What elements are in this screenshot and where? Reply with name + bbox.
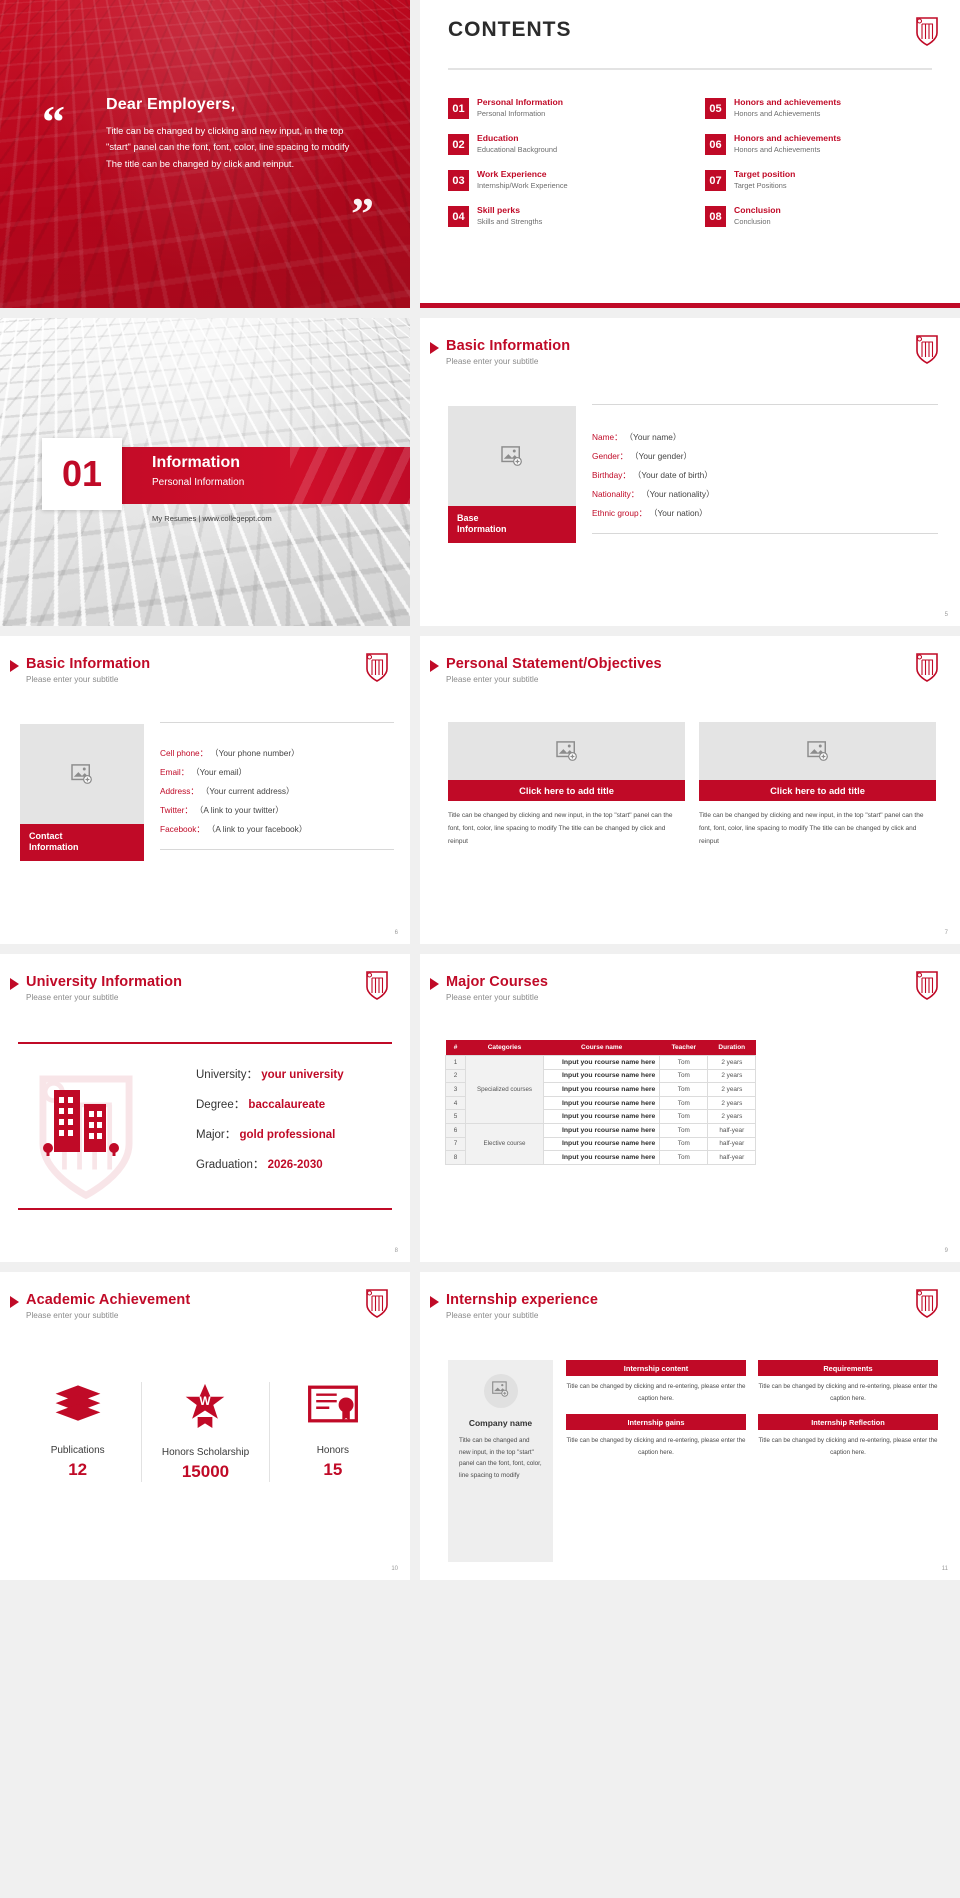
cell-duration: half-year: [708, 1123, 756, 1137]
triangle-bullet-icon: [10, 660, 19, 672]
shield-crest-icon: [914, 1287, 940, 1319]
cell-duration: 2 years: [708, 1096, 756, 1110]
cell-teacher: Tom: [660, 1096, 708, 1110]
toc-number: 06: [705, 134, 726, 155]
cell-index: 6: [446, 1123, 466, 1137]
info-row: Gender： （Your gender）: [592, 450, 938, 462]
page-title: Internship experience: [446, 1292, 598, 1308]
toc-subtitle: Personal Information: [477, 110, 563, 119]
toc-item-08[interactable]: 08 Conclusion Conclusion: [705, 206, 936, 227]
col-teacher: Teacher: [660, 1040, 708, 1056]
cell-duration: half-year: [708, 1151, 756, 1165]
cell-index: 7: [446, 1137, 466, 1151]
stat-honors-scholarship[interactable]: W Honors Scholarship 15000: [141, 1382, 268, 1482]
page-title: Basic Information: [446, 338, 570, 354]
page-number: 8: [395, 1248, 398, 1254]
card-body: Title can be changed by clicking and re-…: [758, 1381, 938, 1405]
slide-header: Internship experience Please enter your …: [446, 1292, 598, 1320]
books-icon: [50, 1413, 106, 1430]
stat-label: Honors: [276, 1445, 390, 1456]
info-row: Birthday： （Your date of birth）: [592, 469, 938, 481]
shield-crest-icon: [364, 651, 390, 683]
page-subtitle: Please enter your subtitle: [446, 357, 570, 366]
col-index: #: [446, 1040, 466, 1056]
internship-card[interactable]: Requirements Title can be changed by cli…: [758, 1360, 938, 1405]
page-number: 5: [945, 612, 948, 618]
header-divider: [448, 68, 932, 70]
toc-item-07[interactable]: 07 Target position Target Positions: [705, 170, 936, 191]
info-row: Facebook： （A link to your facebook）: [160, 823, 394, 835]
university-row: Degree： baccalaureate: [196, 1096, 344, 1112]
page-number: 6: [395, 930, 398, 936]
page-number: 11: [942, 1566, 948, 1572]
row-key: Graduation：: [196, 1159, 264, 1171]
info-value: （Your name）: [625, 432, 681, 442]
info-row: Nationality： （Your nationality）: [592, 488, 938, 500]
info-key: Name：: [592, 432, 622, 442]
company-photo-placeholder[interactable]: [484, 1374, 518, 1408]
stat-label: Honors Scholarship: [148, 1447, 262, 1458]
page-subtitle: Please enter your subtitle: [26, 1311, 190, 1320]
slide-contents[interactable]: CONTENTS 01 Personal Information Persona…: [420, 0, 960, 308]
slide-header: Academic Achievement Please enter your s…: [26, 1292, 190, 1320]
slide-header: Basic Information Please enter your subt…: [446, 338, 570, 366]
toc-title: Personal Information: [477, 98, 563, 108]
toc-title: Honors and achievements: [734, 98, 841, 108]
cell-index: 2: [446, 1069, 466, 1083]
company-text: Title can be changed and new input, in t…: [448, 1428, 553, 1482]
card-body: Title can be changed by clicking and re-…: [758, 1435, 938, 1459]
info-row: Twitter： （A link to your twitter）: [160, 804, 394, 816]
info-key: Address：: [160, 786, 199, 796]
university-row: University： your university: [196, 1066, 344, 1082]
toc-item-05[interactable]: 05 Honors and achievements Honors and Ac…: [705, 98, 936, 119]
slide-header: Personal Statement/Objectives Please ent…: [446, 656, 662, 684]
info-key: Ethnic group：: [592, 508, 647, 518]
info-value: （A link to your twitter）: [195, 805, 284, 815]
label-line-2: Information: [457, 524, 507, 534]
row-value: your university: [261, 1069, 343, 1081]
cell-duration: half-year: [708, 1137, 756, 1151]
info-row: Address： （Your current address）: [160, 785, 394, 797]
toc-number: 04: [448, 206, 469, 227]
triangle-bullet-icon: [430, 660, 439, 672]
slide-thumbnail-grid: “ Dear Employers, Title can be changed b…: [0, 0, 960, 1898]
bottom-rule: [160, 849, 394, 850]
info-key: Nationality：: [592, 489, 639, 499]
toc-title: Honors and achievements: [734, 134, 841, 144]
slide-header: Basic Information Please enter your subt…: [26, 656, 150, 684]
card-body: Title can be changed by clicking and new…: [699, 809, 936, 848]
slide-personal-statement[interactable]: Personal Statement/Objectives Please ent…: [420, 636, 960, 944]
divider-number-box: 01: [42, 438, 122, 510]
add-image-icon: [71, 764, 93, 784]
info-value: （Your phone number）: [210, 748, 299, 758]
cell-duration: 2 years: [708, 1069, 756, 1083]
toc-item-06[interactable]: 06 Honors and achievements Honors and Ac…: [705, 134, 936, 155]
toc-subtitle: Target Positions: [734, 182, 795, 191]
cell-teacher: Tom: [660, 1137, 708, 1151]
photo-placeholder[interactable]: [699, 722, 936, 780]
add-image-icon: [807, 741, 829, 761]
stat-value: 15000: [148, 1462, 262, 1482]
info-value: （Your date of birth）: [633, 470, 712, 480]
divider-footer: My Resumes | www.collegeppt.com: [152, 514, 272, 523]
cover-title: Dear Employers,: [106, 96, 384, 114]
internship-card[interactable]: Internship content Title can be changed …: [566, 1360, 746, 1405]
toc-subtitle: Honors and Achievements: [734, 146, 841, 155]
internship-card[interactable]: Internship Reflection Title can be chang…: [758, 1414, 938, 1459]
university-row: Graduation： 2026-2030: [196, 1156, 344, 1172]
cell-duration: 2 years: [708, 1110, 756, 1124]
info-key: Cell phone：: [160, 748, 208, 758]
toc-number: 05: [705, 98, 726, 119]
info-value: （Your email）: [191, 767, 247, 777]
row-key: Major：: [196, 1129, 236, 1141]
cell-course-name: Input you rcourse name here: [544, 1137, 660, 1151]
add-image-icon: [556, 741, 578, 761]
slide-internship-experience[interactable]: Internship experience Please enter your …: [420, 1272, 960, 1580]
cell-duration: 2 years: [708, 1083, 756, 1097]
card-body: Title can be changed by clicking and re-…: [566, 1381, 746, 1405]
cell-course-name: Input you rcourse name here: [544, 1151, 660, 1165]
info-key: Birthday：: [592, 470, 631, 480]
quote-close-icon: ”: [351, 198, 374, 230]
contents-list: 01 Personal Information Personal Informa…: [448, 98, 936, 227]
cell-course-name: Input you rcourse name here: [544, 1083, 660, 1097]
shield-crest-icon: [364, 969, 390, 1001]
row-value: 2026-2030: [268, 1159, 323, 1171]
cell-course-name: Input you rcourse name here: [544, 1069, 660, 1083]
contact-information-label: Contact Information: [20, 824, 144, 861]
info-value: （Your nation）: [649, 508, 707, 518]
label-line-1: Base: [457, 513, 479, 523]
stat-publications[interactable]: Publications 12: [14, 1382, 141, 1482]
triangle-bullet-icon: [430, 1296, 439, 1308]
cell-teacher: Tom: [660, 1069, 708, 1083]
photo-placeholder[interactable]: [20, 724, 144, 824]
bottom-rule: [592, 533, 938, 534]
triangle-bullet-icon: [430, 342, 439, 354]
slide-cover[interactable]: “ Dear Employers, Title can be changed b…: [0, 0, 410, 308]
divider-title: Information: [152, 454, 240, 472]
slide-header: University Information Please enter your…: [26, 974, 182, 1002]
card-body: Title can be changed by clicking and new…: [448, 809, 685, 848]
info-key: Email：: [160, 767, 189, 777]
label-line-2: Information: [29, 842, 79, 852]
toc-title: Education: [477, 134, 557, 144]
toc-title: Work Experience: [477, 170, 568, 180]
cell-index: 3: [446, 1083, 466, 1097]
statement-card[interactable]: Click here to add title Title can be cha…: [699, 722, 936, 848]
toc-subtitle: Conclusion: [734, 218, 781, 227]
info-value: （Your current address）: [201, 786, 294, 796]
card-title[interactable]: Internship content: [566, 1360, 746, 1376]
shield-crest-icon: [914, 969, 940, 1001]
card-title[interactable]: Internship gains: [566, 1414, 746, 1430]
divider-number: 01: [62, 453, 102, 495]
cell-teacher: Tom: [660, 1110, 708, 1124]
page-title: Major Courses: [446, 974, 548, 990]
toc-item-01[interactable]: 01 Personal Information Personal Informa…: [448, 98, 679, 119]
cell-duration: 2 years: [708, 1056, 756, 1070]
cell-category: Specialized courses: [466, 1056, 544, 1124]
top-rule: [160, 722, 394, 723]
col-duration: Duration: [708, 1040, 756, 1056]
page-number: 10: [391, 1566, 398, 1572]
quote-open-icon: “: [42, 106, 65, 138]
courses-table[interactable]: # Categories Course name Teacher Duratio…: [445, 1040, 756, 1165]
page-title: University Information: [26, 974, 182, 990]
add-image-icon: [492, 1381, 509, 1402]
info-key: Twitter：: [160, 805, 193, 815]
shield-crest-icon: [914, 651, 940, 683]
university-row: Major： gold professional: [196, 1126, 344, 1142]
achievement-stats: Publications 12 W Honors Scholarship 150…: [14, 1382, 396, 1482]
card-body: Title can be changed by clicking and re-…: [566, 1435, 746, 1459]
cell-teacher: Tom: [660, 1056, 708, 1070]
top-rule: [592, 404, 938, 405]
buildings-icon: [38, 1074, 128, 1169]
info-row: Cell phone： （Your phone number）: [160, 747, 394, 759]
cell-index: 5: [446, 1110, 466, 1124]
info-key: Gender：: [592, 451, 628, 461]
card-title[interactable]: Internship Reflection: [758, 1414, 938, 1430]
cell-teacher: Tom: [660, 1123, 708, 1137]
info-key: Facebook：: [160, 824, 205, 834]
company-panel[interactable]: Company name Title can be changed and ne…: [448, 1360, 553, 1562]
page-subtitle: Please enter your subtitle: [446, 993, 548, 1002]
page-title: Personal Statement/Objectives: [446, 656, 662, 672]
toc-number: 01: [448, 98, 469, 119]
cover-body: Title can be changed by clicking and new…: [106, 123, 356, 172]
toc-title: Conclusion: [734, 206, 781, 216]
toc-subtitle: Internship/Work Experience: [477, 182, 568, 191]
cover-quote-block: “ Dear Employers, Title can be changed b…: [40, 96, 384, 172]
shield-crest-icon: [364, 1287, 390, 1319]
toc-number: 02: [448, 134, 469, 155]
toc-item-02[interactable]: 02 Education Educational Background: [448, 134, 679, 155]
university-info-box: University： your university Degree： bacc…: [18, 1042, 392, 1210]
toc-number: 03: [448, 170, 469, 191]
slide-header: Major Courses Please enter your subtitle: [446, 974, 548, 1002]
cell-teacher: Tom: [660, 1083, 708, 1097]
cell-course-name: Input you rcourse name here: [544, 1123, 660, 1137]
slide-academic-achievement[interactable]: Academic Achievement Please enter your s…: [0, 1272, 410, 1580]
contents-title: CONTENTS: [448, 18, 572, 42]
page-subtitle: Please enter your subtitle: [446, 675, 662, 684]
info-value: （Your nationality）: [641, 489, 714, 499]
company-name: Company name: [448, 1418, 553, 1428]
page-number: 7: [945, 930, 948, 936]
stat-value: 12: [20, 1460, 135, 1480]
card-title[interactable]: Requirements: [758, 1360, 938, 1376]
cell-index: 1: [446, 1056, 466, 1070]
photo-placeholder[interactable]: [448, 406, 576, 506]
stat-honors[interactable]: Honors 15: [269, 1382, 396, 1482]
row-value: baccalaureate: [248, 1099, 325, 1111]
cell-index: 4: [446, 1096, 466, 1110]
internship-card[interactable]: Internship gains Title can be changed by…: [566, 1414, 746, 1459]
toc-title: Target position: [734, 170, 795, 180]
col-course-name: Course name: [544, 1040, 660, 1056]
toc-title: Skill perks: [477, 206, 542, 216]
basic-info-list: Name： （Your name） Gender： （Your gender） …: [592, 431, 938, 519]
slide-major-courses[interactable]: Major Courses Please enter your subtitle…: [420, 954, 960, 1262]
shield-crest-icon: [914, 15, 940, 47]
stat-label: Publications: [20, 1445, 135, 1456]
toc-item-03[interactable]: 03 Work Experience Internship/Work Exper…: [448, 170, 679, 191]
toc-subtitle: Educational Background: [477, 146, 557, 155]
info-row: Ethnic group： （Your nation）: [592, 507, 938, 519]
medal-star-icon: W: [177, 1415, 233, 1432]
info-row: Name： （Your name）: [592, 431, 938, 443]
university-rows: University： your university Degree： bacc…: [196, 1066, 344, 1186]
triangle-bullet-icon: [10, 978, 19, 990]
table-header-row: # Categories Course name Teacher Duratio…: [446, 1040, 756, 1056]
page-title: Basic Information: [26, 656, 150, 672]
cell-course-name: Input you rcourse name here: [544, 1110, 660, 1124]
page-subtitle: Please enter your subtitle: [26, 993, 182, 1002]
toc-item-04[interactable]: 04 Skill perks Skills and Strengths: [448, 206, 679, 227]
row-value: gold professional: [239, 1129, 335, 1141]
table-row: 6 Elective course Input you rcourse name…: [446, 1123, 756, 1137]
slide-university-information[interactable]: University Information Please enter your…: [0, 954, 410, 1262]
cell-course-name: Input you rcourse name here: [544, 1056, 660, 1070]
card-title[interactable]: Click here to add title: [448, 780, 685, 801]
page-subtitle: Please enter your subtitle: [446, 1311, 598, 1320]
page-subtitle: Please enter your subtitle: [26, 675, 150, 684]
cell-category: Elective course: [466, 1123, 544, 1164]
row-key: Degree：: [196, 1099, 245, 1111]
row-key: University：: [196, 1069, 258, 1081]
triangle-bullet-icon: [10, 1296, 19, 1308]
cell-teacher: Tom: [660, 1151, 708, 1165]
certificate-icon: [305, 1413, 361, 1430]
table-row: 1 Specialized courses Input you rcourse …: [446, 1056, 756, 1070]
triangle-bullet-icon: [430, 978, 439, 990]
divider-subtitle: Personal Information: [152, 477, 244, 488]
contact-info-list: Cell phone： （Your phone number） Email： （…: [160, 747, 394, 835]
photo-placeholder[interactable]: [448, 722, 685, 780]
page-number: 9: [945, 1248, 948, 1254]
stat-value: 15: [276, 1460, 390, 1480]
add-image-icon: [501, 446, 523, 466]
bottom-accent-bar: [420, 303, 960, 308]
toc-subtitle: Skills and Strengths: [477, 218, 542, 227]
internship-cards: Internship content Title can be changed …: [566, 1360, 938, 1459]
svg-text:W: W: [200, 1394, 212, 1408]
info-row: Email： （Your email）: [160, 766, 394, 778]
slide-contact-information[interactable]: Basic Information Please enter your subt…: [0, 636, 410, 944]
slide-section-divider[interactable]: 01 Information Personal Information My R…: [0, 318, 410, 626]
info-value: （A link to your facebook）: [207, 824, 307, 834]
cell-index: 8: [446, 1151, 466, 1165]
base-information-label: Base Information: [448, 506, 576, 543]
toc-number: 07: [705, 170, 726, 191]
info-value: （Your gender）: [630, 451, 692, 461]
slide-basic-information[interactable]: Basic Information Please enter your subt…: [420, 318, 960, 626]
col-categories: Categories: [466, 1040, 544, 1056]
toc-number: 08: [705, 206, 726, 227]
card-title[interactable]: Click here to add title: [699, 780, 936, 801]
cell-course-name: Input you rcourse name here: [544, 1096, 660, 1110]
toc-subtitle: Honors and Achievements: [734, 110, 841, 119]
statement-card[interactable]: Click here to add title Title can be cha…: [448, 722, 685, 848]
label-line-1: Contact: [29, 831, 63, 841]
page-title: Academic Achievement: [26, 1292, 190, 1308]
shield-crest-icon: [914, 333, 940, 365]
